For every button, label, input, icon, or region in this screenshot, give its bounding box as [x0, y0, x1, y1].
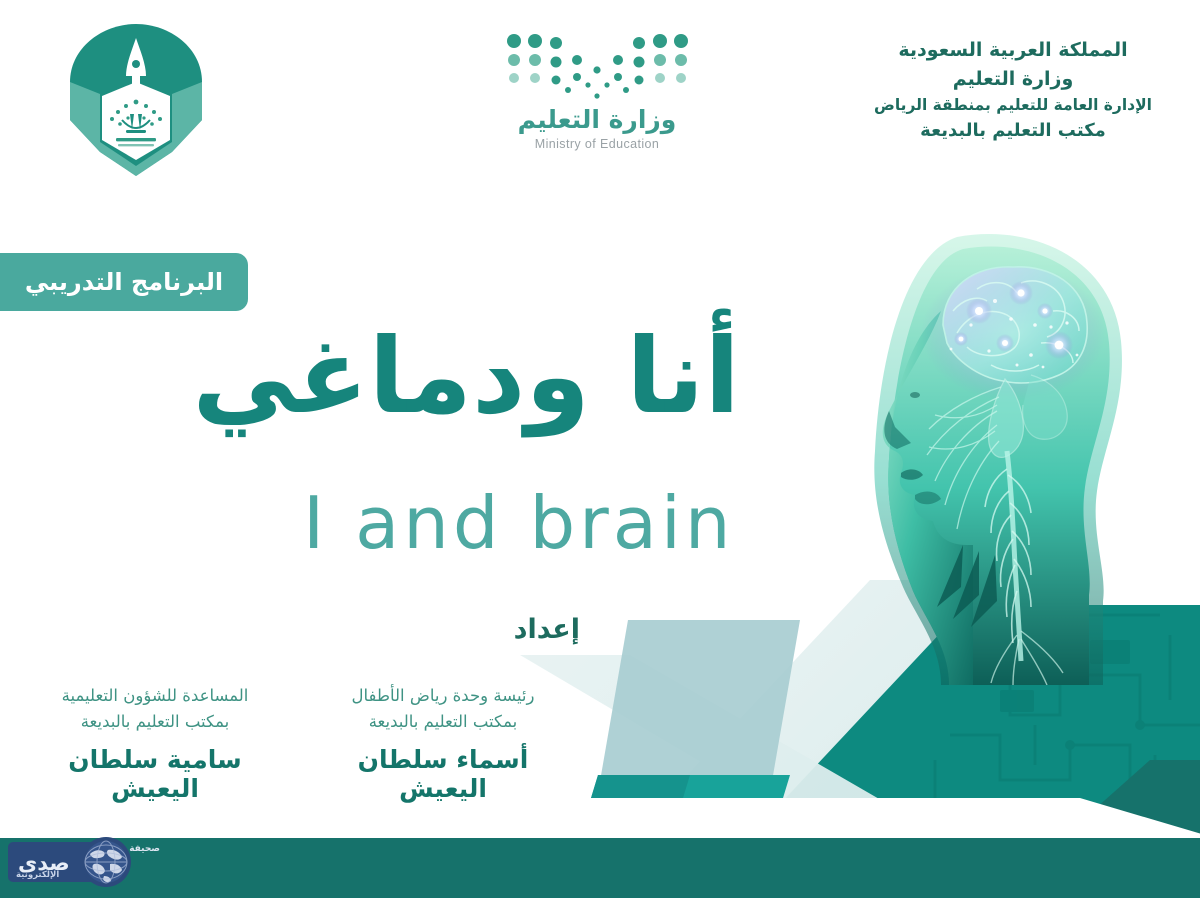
ministry-text-line-3: الإدارة العامة للتعليم بمنطقة الرياض	[848, 94, 1178, 118]
moe-english-label: Ministry of Education	[492, 137, 702, 151]
training-program-badge: البرنامج التدريبي	[0, 253, 248, 311]
credits-heading: إعداد	[514, 614, 580, 645]
ministry-text-line-4: مكتب التعليم بالبديعة	[848, 117, 1178, 144]
poster-header: وزارة التعليم Ministry of Education المم…	[0, 0, 1200, 195]
credits-section: إعداد رئيسة وحدة رياض الأطفال بمكتب التع…	[0, 614, 580, 803]
geo-base-white-wedge	[0, 798, 1200, 838]
ministry-text-line-2: وزارة التعليم	[848, 65, 1178, 94]
credits-heading-wrap: إعداد	[0, 614, 580, 645]
credit-person-name: أسماء سلطان اليعيش	[318, 745, 568, 803]
ministry-of-education-logo: وزارة التعليم Ministry of Education	[492, 30, 702, 165]
globe-icon	[80, 836, 132, 888]
page-title-arabic: أنا ودماغي	[192, 322, 740, 431]
page-title-english: I and brain	[303, 487, 735, 559]
credits-columns: رئيسة وحدة رياض الأطفال بمكتب التعليم با…	[0, 683, 580, 803]
ministry-text-block: المملكة العربية السعودية وزارة التعليم ا…	[848, 36, 1178, 145]
credit-person-2: رئيسة وحدة رياض الأطفال بمكتب التعليم با…	[318, 683, 568, 803]
geo-base-band	[0, 832, 1200, 898]
office-emblem-icon	[62, 20, 210, 180]
poster-canvas: وزارة التعليم Ministry of Education المم…	[0, 0, 1200, 898]
head-brain-illustration	[845, 215, 1175, 685]
credit-role-line-1: رئيسة وحدة رياض الأطفال	[318, 683, 568, 709]
credit-person-1: المساعدة للشؤون التعليمية بمكتب التعليم …	[30, 683, 280, 803]
watermark-bottom-label: الإلكترونية	[16, 870, 59, 880]
credit-role-line-2: بمكتب التعليم بالبديعة	[318, 709, 568, 735]
training-program-label: البرنامج التدريبي	[25, 268, 223, 296]
credit-role-line-2: بمكتب التعليم بالبديعة	[30, 709, 280, 735]
watermark-top-label: صحيفة	[129, 844, 160, 854]
credit-person-name: سامية سلطان اليعيش	[30, 745, 280, 803]
ministry-text-line-1: المملكة العربية السعودية	[848, 36, 1178, 65]
sada-watermark: صحيفة صدى الإلكترونية	[8, 836, 168, 888]
moe-dots-icon	[502, 30, 692, 100]
credit-role-line-1: المساعدة للشؤون التعليمية	[30, 683, 280, 709]
moe-arabic-label: وزارة التعليم	[492, 106, 702, 134]
